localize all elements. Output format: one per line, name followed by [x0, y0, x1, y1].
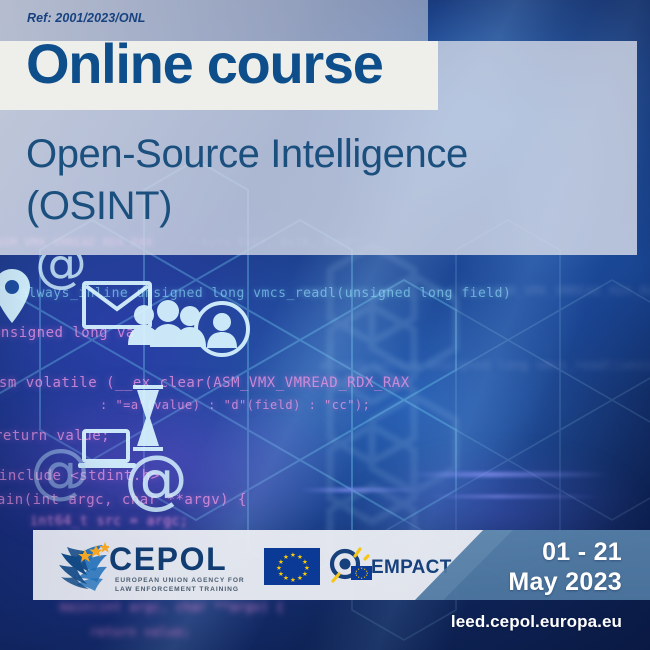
cepol-tagline: EUROPEAN UNION AGENCY FOR LAW ENFORCEMEN… [115, 576, 245, 594]
date-days: 01 - 21 [542, 538, 622, 567]
page-subtitle: Open-Source Intelligence (OSINT) [26, 128, 586, 232]
cepol-wordmark: CEPOL [109, 543, 227, 575]
reference-code: Ref: 2001/2023/ONL [27, 11, 146, 25]
page-title: Online course [26, 36, 383, 92]
eu-flag-icon: ★ ★ ★ ★ ★ ★ ★ ★ ★ ★ ★ ★ [264, 548, 320, 585]
cepol-tagline-line2: LAW ENFORCEMENT TRAINING [115, 585, 245, 594]
date-month-year: May 2023 [508, 568, 622, 597]
cepol-logo: CEPOL EUROPEAN UNION AGENCY FOR LAW ENFO… [57, 539, 272, 593]
empact-eu-flag-icon: ★ ★ ★ ★ ★ ★ ★ ★ ★ ★ ★ ★ [351, 566, 372, 580]
empact-logo: ★ ★ ★ ★ ★ ★ ★ ★ ★ ★ ★ ★ EMPACT [327, 547, 437, 587]
course-poster: always_inline unsigned long vmcs_readl(u… [0, 0, 650, 650]
course-url[interactable]: leed.cepol.europa.eu [451, 612, 622, 632]
cepol-emblem-icon [57, 541, 109, 591]
cepol-tagline-line1: EUROPEAN UNION AGENCY FOR [115, 576, 245, 585]
